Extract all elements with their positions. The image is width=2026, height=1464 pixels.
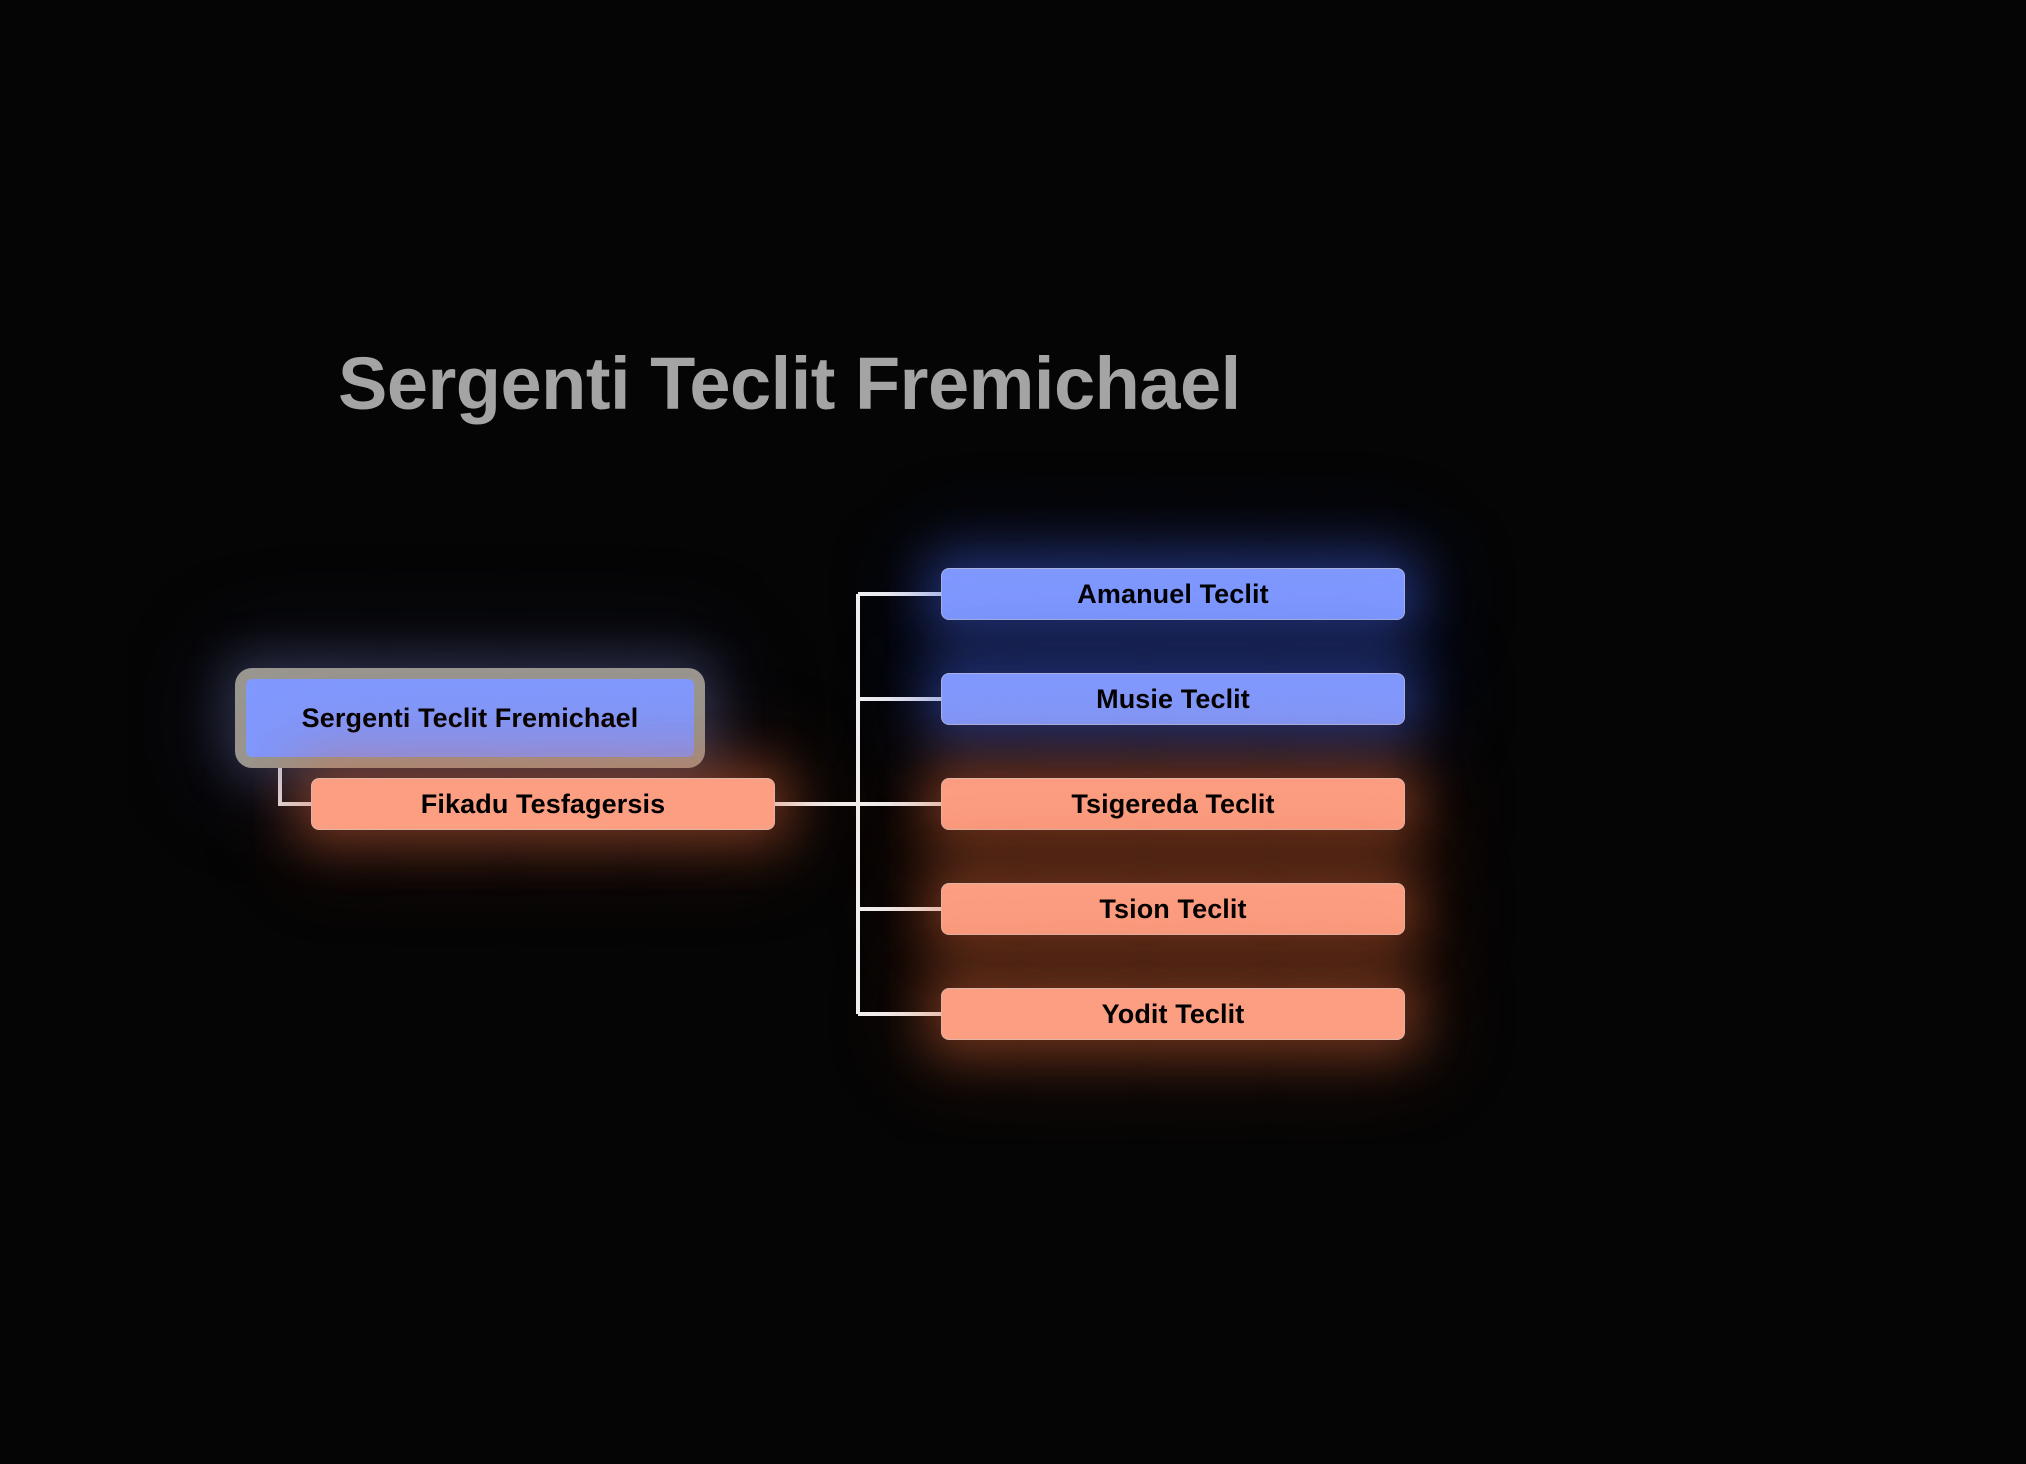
selection-frame-root[interactable]: Sergenti Teclit Fremichael [235,668,705,768]
node-child-musie-teclit[interactable]: Musie Teclit [941,673,1405,725]
page-title: Sergenti Teclit Fremichael [338,345,1241,423]
node-root-sergenti-teclit-fremichael[interactable]: Sergenti Teclit Fremichael [246,679,694,757]
node-child-tsion-teclit[interactable]: Tsion Teclit [941,883,1405,935]
node-spouse-fikadu-tesfagersis[interactable]: Fikadu Tesfagersis [311,778,775,830]
node-child-tsigereda-teclit[interactable]: Tsigereda Teclit [941,778,1405,830]
node-child-yodit-teclit[interactable]: Yodit Teclit [941,988,1405,1040]
connector-root-to-spouse [280,768,311,804]
node-child-amanuel-teclit[interactable]: Amanuel Teclit [941,568,1405,620]
diagram-canvas: Sergenti Teclit Fremichael Sergenti Tecl… [0,0,2026,1464]
